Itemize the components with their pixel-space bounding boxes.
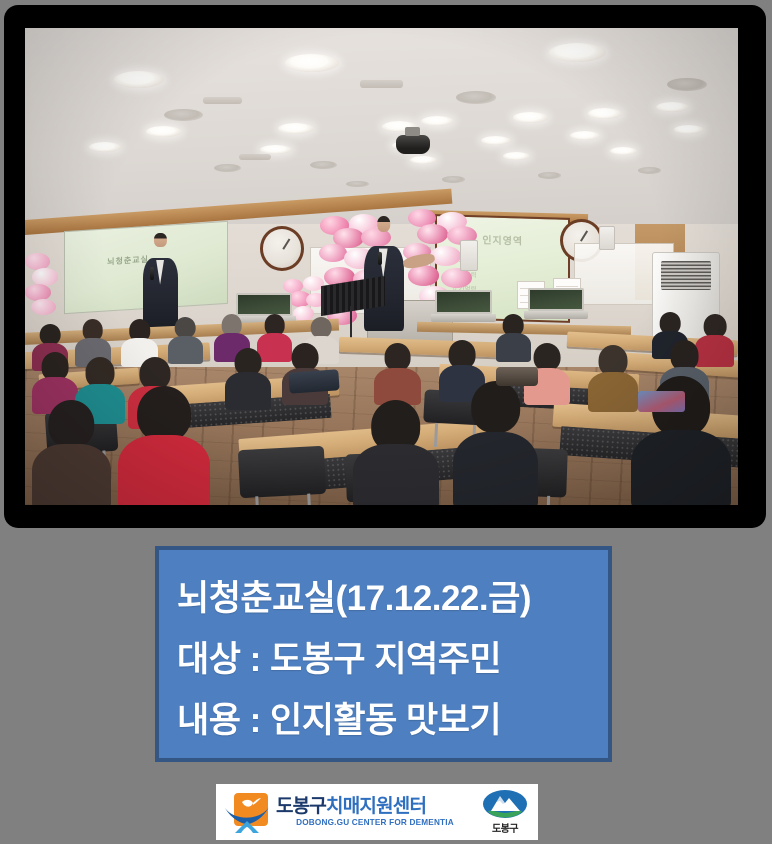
bag — [496, 367, 539, 386]
wall-speaker — [460, 240, 479, 271]
ceiling-light — [310, 161, 337, 169]
dementia-center-logo-text: 도봉구치매지원센터 DOBONG.GU CENTER FOR DEMENTIA — [276, 797, 474, 827]
bag — [638, 391, 684, 412]
ceiling-light — [214, 164, 241, 172]
ceiling-light — [503, 152, 530, 160]
logo-bar: 도봉구치매지원센터 DOBONG.GU CENTER FOR DEMENTIA … — [216, 784, 538, 840]
logo-person-figure — [224, 791, 270, 833]
mountain-emblem-icon — [482, 789, 528, 819]
ceiling-light — [146, 126, 182, 137]
laptop — [431, 290, 495, 321]
caption-line-audience: 대상 : 도봉구 지역주민 — [177, 629, 608, 690]
ceiling-light — [346, 181, 369, 188]
ceiling-light — [481, 136, 511, 145]
logo-name-center: 치매지원센터 — [326, 796, 426, 817]
microphone — [378, 252, 382, 265]
logo-name-district: 도봉구 — [276, 796, 326, 817]
audience-member — [374, 343, 420, 405]
laptop — [524, 288, 588, 319]
event-photo: 뇌청춘교실 인지영역 지남력 집중력 기억력 시공간능력 — [25, 28, 738, 505]
ceiling-light — [410, 156, 437, 164]
ceiling-light — [570, 131, 600, 140]
ceiling-light — [456, 91, 496, 103]
wall-clock — [260, 226, 304, 271]
ceiling-light — [538, 172, 561, 179]
caption-box: 뇌청춘교실(17.12.22.금) 대상 : 도봉구 지역주민 내용 : 인지활… — [155, 546, 612, 762]
audience-member-front — [453, 381, 539, 505]
audience-member — [225, 348, 271, 410]
ceiling-projector — [396, 135, 430, 154]
caption-line-content: 내용 : 인지활동 맛보기 — [177, 690, 608, 751]
ceiling-light — [442, 176, 465, 183]
presenter-left — [143, 233, 179, 328]
balloon-cluster-edge — [25, 252, 61, 314]
ceiling-vent — [239, 154, 271, 159]
ceiling-light — [114, 71, 164, 88]
audience-member-front — [32, 400, 110, 505]
ceiling-light — [656, 102, 689, 112]
chair — [238, 446, 326, 498]
ceiling-light — [638, 167, 661, 174]
wall-speaker — [599, 226, 615, 250]
dobong-gu-emblem: 도봉구 — [480, 789, 530, 835]
audience-member-front — [353, 400, 439, 505]
air-conditioner-grill — [661, 261, 711, 290]
photo-frame: 뇌청춘교실 인지영역 지남력 집중력 기억력 시공간능력 — [4, 5, 766, 528]
microphone — [150, 267, 154, 280]
dobong-gu-label: 도봉구 — [480, 820, 530, 835]
ceiling-light — [421, 116, 454, 126]
ceiling-vent — [360, 80, 403, 88]
ceiling-light — [513, 112, 547, 122]
ceiling-light — [588, 108, 622, 118]
logo-english-name: DOBONG.GU CENTER FOR DEMENTIA — [276, 818, 474, 827]
dementia-center-logo-icon — [224, 791, 270, 833]
audience-member-front — [118, 386, 211, 505]
ceiling-vent — [203, 97, 242, 104]
ceiling-light — [89, 142, 120, 152]
logo-korean-name: 도봉구치매지원센터 — [276, 797, 474, 817]
caption-line-title: 뇌청춘교실(17.12.22.금) — [177, 568, 608, 629]
